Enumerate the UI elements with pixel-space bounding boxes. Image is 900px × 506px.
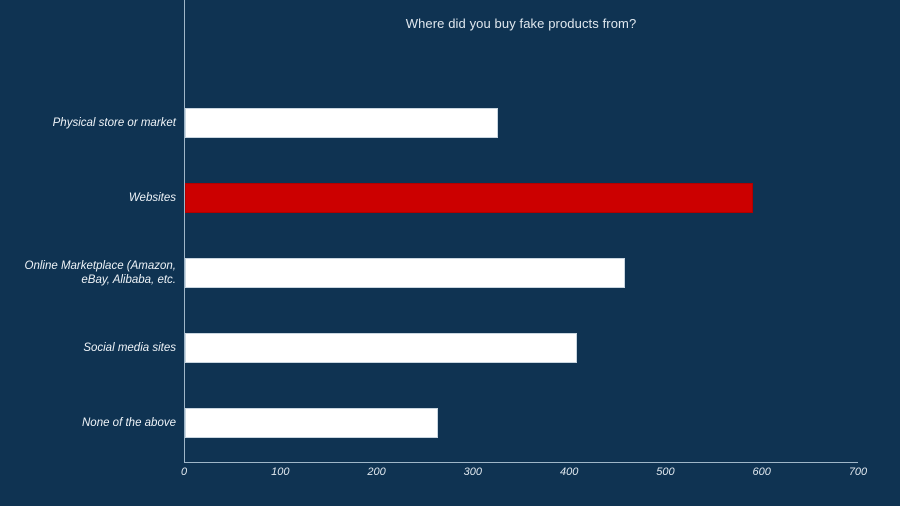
plot-area xyxy=(185,0,858,462)
x-tick-label-300: 300 xyxy=(443,466,503,478)
bar-0[interactable] xyxy=(185,108,498,138)
x-tick-label-400: 400 xyxy=(539,466,599,478)
category-label-4: None of the above xyxy=(0,416,176,430)
category-label-0: Physical store or market xyxy=(0,116,176,130)
bar-4[interactable] xyxy=(185,408,438,438)
category-label-3: Social media sites xyxy=(0,341,176,355)
x-axis-line xyxy=(184,462,858,463)
x-tick-label-100: 100 xyxy=(250,466,310,478)
x-tick-label-500: 500 xyxy=(635,466,695,478)
x-tick-label-200: 200 xyxy=(347,466,407,478)
x-tick-label-600: 600 xyxy=(732,466,792,478)
category-label-1: Websites xyxy=(0,191,176,205)
bar-1[interactable] xyxy=(185,183,753,213)
x-tick-label-0: 0 xyxy=(154,466,214,478)
bar-2[interactable] xyxy=(185,258,625,288)
x-tick-label-700: 700 xyxy=(828,466,888,478)
category-label-2: Online Marketplace (Amazon, eBay, Alibab… xyxy=(0,259,176,287)
bar-3[interactable] xyxy=(185,333,577,363)
bar-chart: Where did you buy fake products from? Ph… xyxy=(0,0,900,506)
